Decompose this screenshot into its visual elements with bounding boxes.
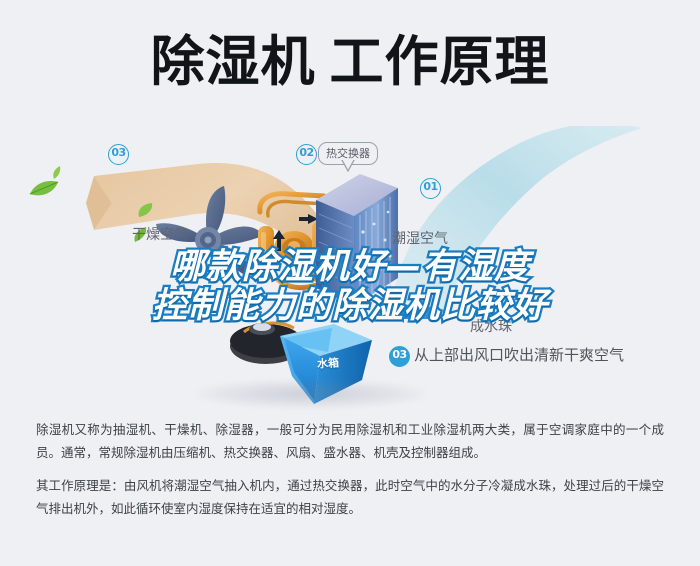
header: 除湿机工作原理 bbox=[0, 0, 700, 120]
badge-humid-air: 01 bbox=[420, 178, 441, 199]
leaf-icon bbox=[29, 180, 59, 197]
badge-dry-air: 03 bbox=[108, 144, 129, 165]
title-part-1: 除湿机 bbox=[151, 30, 316, 93]
label-dry-air: 干燥空气 bbox=[132, 224, 188, 244]
label-humid-air: 潮湿空气 bbox=[392, 228, 448, 248]
callout-tail-icon bbox=[341, 160, 355, 172]
heat-exchanger-illustration bbox=[310, 166, 405, 316]
paragraph-2: 其工作原理是：由风机将潮湿空气抽入机内，通过热交换器，此时空气中的水分子冷凝成水… bbox=[36, 474, 664, 520]
page-title: 除湿机工作原理 bbox=[0, 32, 700, 92]
device-shadow bbox=[196, 380, 426, 408]
label-condensation: 成水珠 bbox=[470, 316, 512, 336]
label-outlet-caption: 从上部出风口吹出清新干爽空气 bbox=[414, 344, 624, 365]
leaf-icon bbox=[52, 166, 61, 179]
water-tank-label: 水箱 bbox=[317, 354, 340, 371]
badge-outlet: 03 bbox=[389, 346, 410, 367]
badge-heat-exchanger: 02 bbox=[296, 144, 317, 165]
air-inlet-arrow bbox=[388, 303, 434, 329]
body-copy: 除湿机又称为抽湿机、干燥机、除湿器，一般可分为民用除湿机和工业除湿机两大类，属于… bbox=[36, 418, 664, 520]
paragraph-1: 除湿机又称为抽湿机、干燥机、除湿器，一般可分为民用除湿机和工业除湿机两大类，属于… bbox=[36, 418, 664, 464]
diagram-stage: 水箱 03 02 01 03 热交换器 干燥空气 潮湿空气 成水珠 从上部出风口… bbox=[0, 118, 700, 410]
page-root: 除湿机工作原理 bbox=[0, 0, 700, 566]
title-part-2: 工作原理 bbox=[330, 30, 550, 93]
